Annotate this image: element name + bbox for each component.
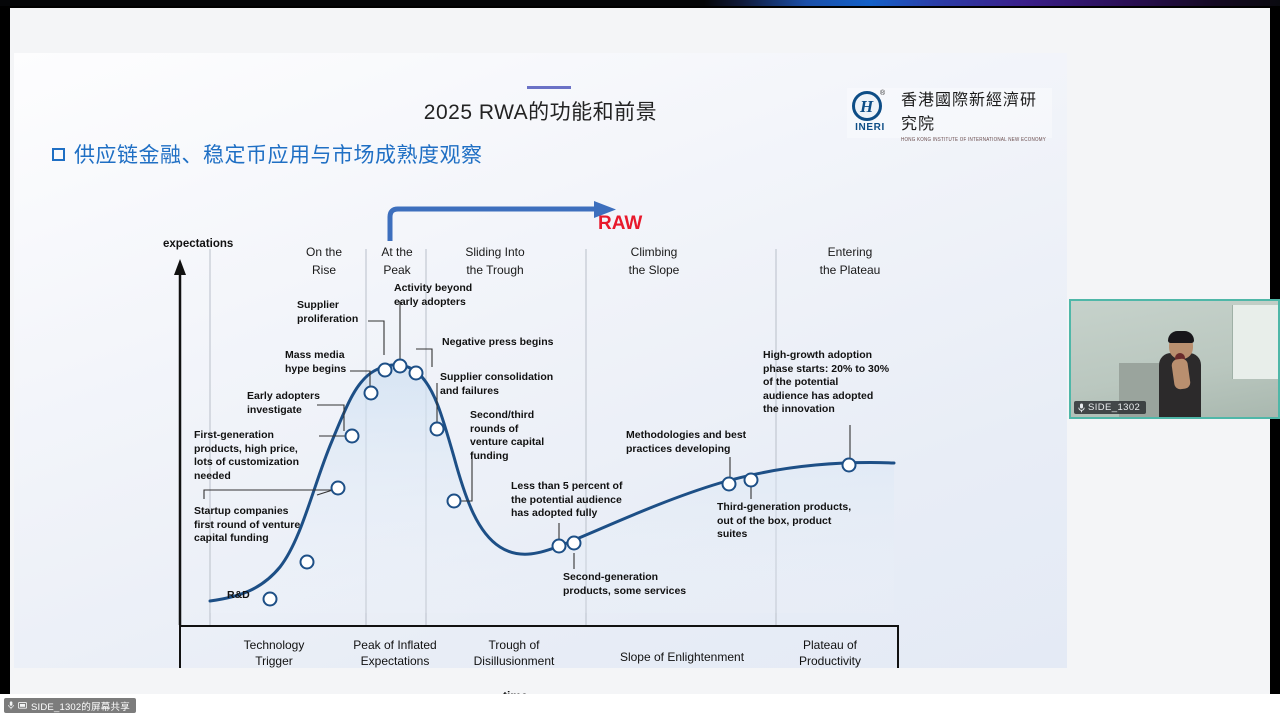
annotation-high-growth-adoption: High-growth adoption phase starts: 20% t… — [763, 349, 889, 417]
annotation-first-generation: First-generation products, high price, l… — [194, 429, 299, 483]
point-supplier-consolidation — [431, 423, 444, 436]
point-rd — [264, 593, 277, 606]
hype-cycle-chart: expectations time On the Rise At the Pea… — [14, 53, 1067, 668]
annotation-negative-press: Negative press begins — [442, 336, 553, 350]
annotation-second-third-rounds: Second/third rounds of venture capital f… — [470, 409, 544, 463]
phase-label-at-the-peak: At the Peak — [362, 243, 432, 279]
annotation-less-than-5-percent: Less than 5 percent of the potential aud… — [511, 480, 622, 521]
point-startup — [301, 556, 314, 569]
whiteboard-shape — [1232, 305, 1278, 379]
annotation-rd: R&D — [227, 589, 250, 603]
annotation-early-adopters: Early adopters investigate — [247, 390, 320, 417]
y-axis — [174, 259, 186, 625]
phase-label-on-the-rise: On the Rise — [286, 243, 362, 279]
annotation-second-generation: Second-generation products, some service… — [563, 571, 686, 598]
annotation-activity-beyond: Activity beyond early adopters — [394, 282, 472, 309]
annotation-supplier-proliferation: Supplier proliferation — [297, 299, 358, 326]
presentation-slide: 2025 RWA的功能和前景 H ® INERI 香港國際新經濟研究院 HONG… — [14, 53, 1067, 668]
participant-video-tile[interactable]: SIDE_1302 — [1069, 299, 1280, 419]
microphone-icon — [8, 701, 14, 710]
point-second-generation — [568, 537, 581, 550]
screen-share-window: 2025 RWA的功能和前景 H ® INERI 香港國際新經濟研究院 HONG… — [0, 0, 1280, 720]
annotation-mass-media: Mass media hype begins — [285, 349, 346, 376]
band-label-peak-inflated: Peak of Inflated Expectations — [332, 637, 458, 669]
microphone-icon — [1078, 403, 1085, 413]
hype-cycle-figure — [14, 53, 1067, 668]
point-high-growth — [843, 459, 856, 472]
participant-name-badge: SIDE_1302 — [1074, 401, 1146, 414]
screen-share-indicator[interactable]: SIDE_1302的屏幕共享 — [4, 698, 136, 713]
phase-label-entering-the-plateau: Entering the Plateau — [796, 243, 904, 279]
share-status-label: SIDE_1302的屏幕共享 — [31, 699, 130, 713]
annotation-startup-companies: Startup companies first round of venture… — [194, 505, 300, 546]
band-label-trough-disillusion: Trough of Disillusionment — [454, 637, 574, 669]
speaker-hair — [1168, 331, 1194, 343]
annotation-methodologies: Methodologies and best practices develop… — [626, 429, 746, 456]
annotation-supplier-consolidation: Supplier consolidation and failures — [440, 371, 553, 398]
status-bar: SIDE_1302的屏幕共享 — [0, 694, 1280, 720]
phase-label-climbing-the-slope: Climbing the Slope — [606, 243, 702, 279]
monitor-icon — [18, 702, 27, 710]
point-mass-media — [365, 387, 378, 400]
band-label-slope-enlightenment: Slope of Enlightenment — [592, 649, 772, 665]
point-methodologies — [723, 478, 736, 491]
point-activity-beyond — [394, 360, 407, 373]
point-second-third-rounds — [448, 495, 461, 508]
point-third-generation — [745, 474, 758, 487]
point-less-than-5 — [553, 540, 566, 553]
participant-name-label: SIDE_1302 — [1088, 402, 1140, 413]
y-axis-label: expectations — [163, 238, 233, 250]
band-label-technology-trigger: Technology Trigger — [214, 637, 334, 669]
point-negative-press — [410, 367, 423, 380]
point-early-adopters — [346, 430, 359, 443]
point-supplier-proliferation — [379, 364, 392, 377]
phase-label-sliding-into-trough: Sliding Into the Trough — [441, 243, 549, 279]
top-color-strip — [0, 0, 1280, 6]
annotation-third-generation: Third-generation products, out of the bo… — [717, 501, 851, 542]
point-first-generation — [332, 482, 345, 495]
band-label-plateau-productivity: Plateau of Productivity — [772, 637, 888, 669]
